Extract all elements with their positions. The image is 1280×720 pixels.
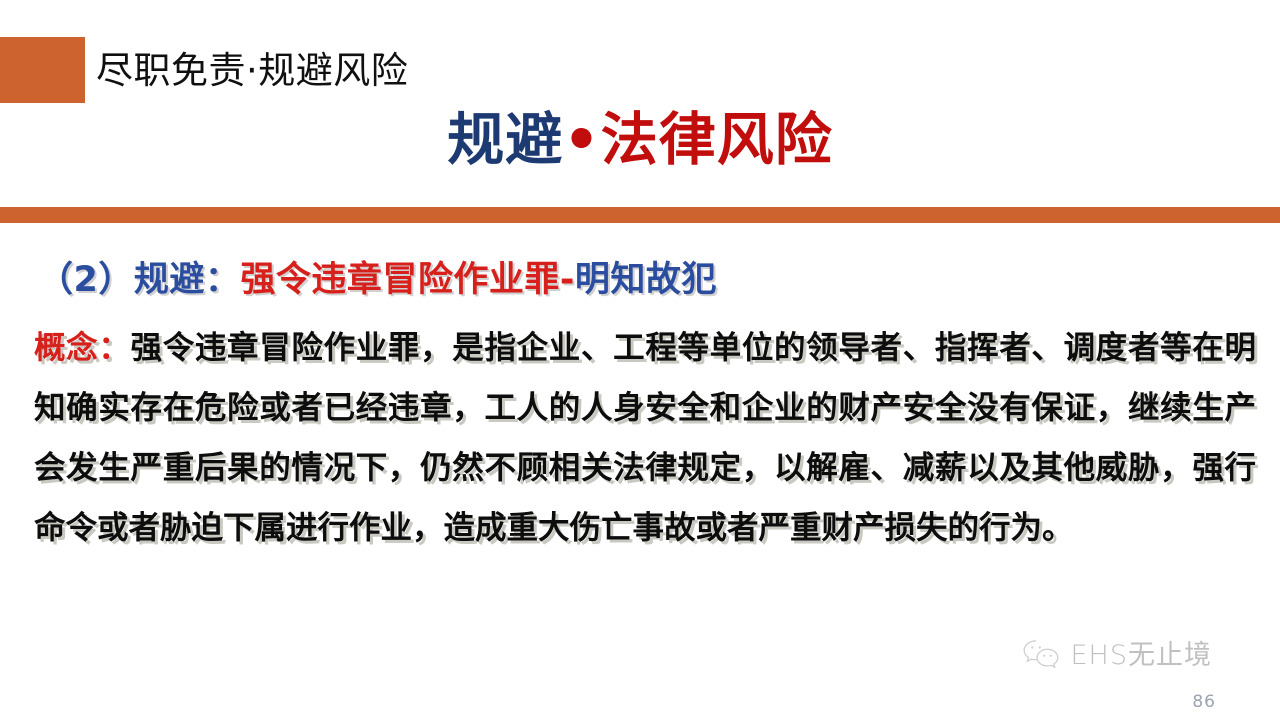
watermark: EHS无止境 <box>1021 638 1212 672</box>
header-accent-block <box>0 37 85 103</box>
body-concept-label: 概念： <box>34 330 131 366</box>
slide-canvas: 尽职免责·规避风险 规避•法律风险 （2）规避：强令违章冒险作业罪-明知故犯 概… <box>0 0 1280 720</box>
main-title-red-segment: 法律风险 <box>601 107 833 173</box>
watermark-text: EHS无止境 <box>1070 642 1212 669</box>
wechat-icon <box>1021 638 1061 672</box>
page-number: 86 <box>1192 692 1216 712</box>
body-paragraph-text: 强令违章冒险作业罪，是指企业、工程等单位的领导者、指挥者、调度者等在明知确实存在… <box>34 330 1256 546</box>
section-heading: （2）规避：强令违章冒险作业罪-明知故犯 <box>38 259 717 301</box>
section-heading-crime-name: 强令违章冒险作业罪- <box>240 260 575 300</box>
body-paragraph: 概念：强令违章冒险作业罪，是指企业、工程等单位的领导者、指挥者、调度者等在明知确… <box>34 318 1256 558</box>
main-title: 规避•法律风险 <box>0 108 1280 174</box>
header-title: 尽职免责·规避风险 <box>96 38 408 102</box>
section-heading-suffix: 明知故犯 <box>575 260 717 300</box>
orange-divider-bar <box>0 207 1280 223</box>
main-title-separator-dot: • <box>563 107 600 173</box>
section-heading-prefix: （2）规避： <box>38 260 240 300</box>
main-title-blue-segment: 规避 <box>447 107 563 173</box>
